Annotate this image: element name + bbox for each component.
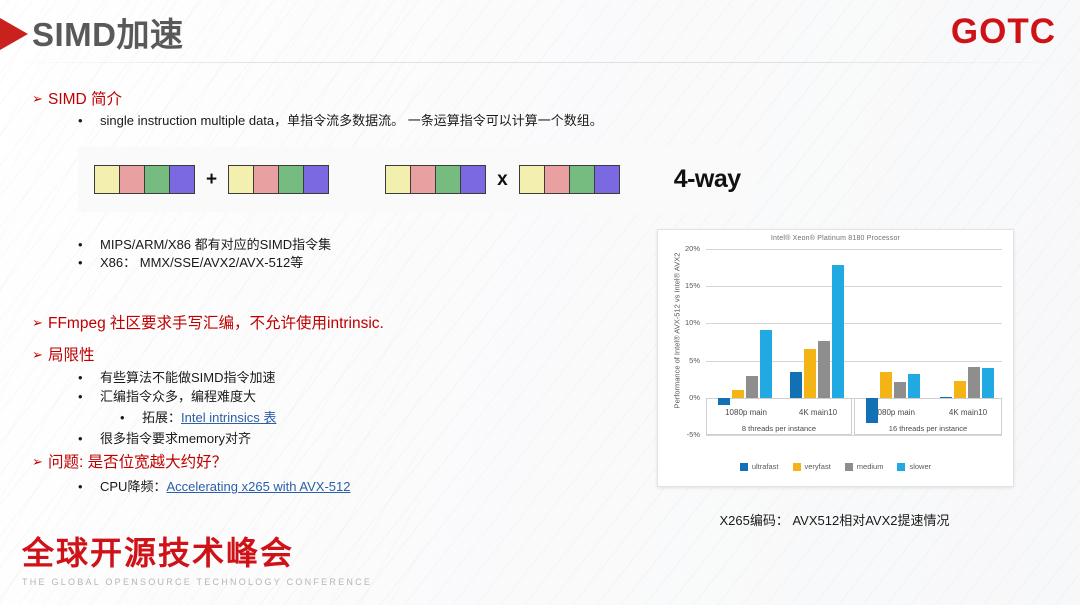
bullet-text: 局限性 — [48, 346, 95, 367]
slide-header: SIMD加速 GOTC — [0, 0, 1080, 62]
bullet-item-l2: •有些算法不能做SIMD指令加速 — [78, 369, 276, 387]
simd-lane — [461, 166, 485, 193]
bullet-item-l1: ➢问题: 是否位宽越大约好？ — [32, 453, 227, 474]
simd-lane — [436, 166, 461, 193]
chart-group-label: 16 threads per instance — [854, 424, 1002, 433]
bullet-text: SIMD 简介 — [48, 90, 122, 111]
chart-gridline — [706, 361, 1002, 362]
page-title: SIMD加速 — [32, 8, 184, 56]
chart-legend-item: ultrafast — [740, 462, 779, 471]
chart-gridline — [706, 286, 1002, 287]
chevron-bullet-icon: ➢ — [32, 453, 48, 472]
simd-lane — [411, 166, 436, 193]
chart-bar — [866, 398, 878, 423]
chart-legend-swatch — [897, 463, 905, 471]
chart-bar — [760, 330, 772, 398]
simd-lane — [229, 166, 254, 193]
conference-logo: 全球开源技术峰会 THE GLOBAL OPENSOURCE TECHNOLOG… — [22, 528, 372, 587]
bullet-item-l2: •CPU降频：Accelerating x265 with AVX-512 — [78, 478, 350, 496]
chart-gridline — [706, 249, 1002, 250]
hyperlink[interactable]: Accelerating x265 with AVX-512 — [166, 478, 350, 496]
bullet-text: CPU降频： — [100, 478, 166, 496]
chart-group-label: 8 threads per instance — [706, 424, 852, 433]
bullet-text: single instruction multiple data，单指令流多数据… — [100, 112, 603, 130]
chevron-bullet-icon: ➢ — [32, 314, 48, 333]
gotc-logo: GOTC — [951, 12, 1056, 52]
bullet-text: 拓展： — [142, 409, 181, 427]
triangle-right-icon — [0, 18, 28, 50]
bullet-item-l1: ➢FFmpeg 社区要求手写汇编，不允许使用intrinsic. — [32, 314, 384, 335]
bullet-item-l2: •很多指令要求memory对齐 — [78, 430, 251, 448]
chart-bar — [894, 382, 906, 398]
simd-lane — [304, 166, 328, 193]
chart-y-tick-label: 20% — [666, 244, 700, 253]
bullet-item-l1: ➢SIMD 简介 — [32, 90, 122, 111]
chart-category-label: 4K main10 — [923, 408, 1013, 417]
bullet-text: 汇编指令众多，编程难度大 — [100, 388, 256, 406]
chart-gridline — [706, 435, 1002, 436]
chevron-bullet-icon: ➢ — [32, 90, 48, 109]
chart-y-tick-label: 5% — [666, 356, 700, 365]
chart-bar — [832, 265, 844, 398]
simd-lane — [170, 166, 194, 193]
chevron-bullet-icon: ➢ — [32, 346, 48, 365]
simd-operator: + — [206, 169, 217, 191]
bullet-item-l1: ➢局限性 — [32, 346, 95, 367]
chart-bar — [818, 341, 830, 398]
chart-legend-label: slower — [909, 462, 931, 471]
simd-lane — [386, 166, 411, 193]
hyperlink[interactable]: Intel intrinsics 表 — [181, 409, 276, 427]
bullet-text: 问题: 是否位宽越大约好？ — [48, 453, 227, 474]
chart-legend: ultrafastveryfastmediumslower — [658, 462, 1013, 471]
simd-lane — [545, 166, 570, 193]
simd-lane — [120, 166, 145, 193]
chart-y-tick-label: 0% — [666, 393, 700, 402]
chart-legend-item: medium — [845, 462, 884, 471]
simd-lane — [595, 166, 619, 193]
bullet-text: MIPS/ARM/X86 都有对应的SIMD指令集 — [100, 236, 331, 254]
bullet-item-l2: •汇编指令众多，编程难度大 — [78, 388, 256, 406]
chart-bar — [880, 372, 892, 398]
bullet-text: X86： MMX/SSE/AVX2/AVX-512等 — [100, 254, 303, 272]
bullet-text: 有些算法不能做SIMD指令加速 — [100, 369, 276, 387]
chart-legend-item: veryfast — [793, 462, 831, 471]
chart-legend-label: medium — [857, 462, 884, 471]
simd-way-label: 4-way — [674, 165, 741, 194]
chart-bar — [790, 372, 802, 398]
dot-bullet-icon: • — [120, 409, 142, 427]
chart-bar — [954, 381, 966, 397]
chart-y-tick-label: 10% — [666, 318, 700, 327]
simd-vector — [94, 165, 195, 194]
bullet-item-l2: •single instruction multiple data，单指令流多数… — [78, 112, 603, 130]
chart-title: Intel® Xeon® Platinum 8180 Processor — [658, 235, 1013, 242]
chart-caption: X265编码： AVX512相对AVX2提速情况 — [657, 510, 1012, 529]
bullet-item-l2: •X86： MMX/SSE/AVX2/AVX-512等 — [78, 254, 303, 272]
chart-gridline — [706, 323, 1002, 324]
chart-legend-swatch — [740, 463, 748, 471]
chart-legend-item: slower — [897, 462, 931, 471]
conference-logo-cn: 全球开源技术峰会 — [22, 528, 372, 574]
simd-vector — [228, 165, 329, 194]
chart-bar — [718, 398, 730, 405]
chart-legend-swatch — [793, 463, 801, 471]
simd-lane — [279, 166, 304, 193]
simd-lane — [254, 166, 279, 193]
dot-bullet-icon: • — [78, 369, 100, 387]
simd-operator: x — [497, 169, 508, 191]
avx512-performance-chart: Intel® Xeon® Platinum 8180 Processor Per… — [657, 229, 1014, 487]
chart-bar — [908, 374, 920, 398]
dot-bullet-icon: • — [78, 236, 100, 254]
chart-plot-area: 20%15%10%5%0%-5%8 threads per instance16… — [706, 249, 1002, 435]
bullet-item-l3: •拓展：Intel intrinsics 表 — [120, 409, 276, 427]
simd-vector — [385, 165, 486, 194]
dot-bullet-icon: • — [78, 112, 100, 130]
dot-bullet-icon: • — [78, 388, 100, 406]
header-divider — [0, 62, 1080, 63]
dot-bullet-icon: • — [78, 430, 100, 448]
chart-bar — [982, 368, 994, 398]
conference-logo-en: THE GLOBAL OPENSOURCE TECHNOLOGY CONFERE… — [22, 577, 372, 587]
simd-lane — [95, 166, 120, 193]
chart-bar — [940, 397, 952, 398]
chart-legend-label: veryfast — [805, 462, 831, 471]
bullet-item-l2: •MIPS/ARM/X86 都有对应的SIMD指令集 — [78, 236, 331, 254]
simd-lane — [145, 166, 170, 193]
chart-bar — [732, 390, 744, 397]
simd-vector — [519, 165, 620, 194]
bullet-text: 很多指令要求memory对齐 — [100, 430, 251, 448]
chart-legend-label: ultrafast — [752, 462, 779, 471]
chart-bar — [968, 367, 980, 398]
bullet-text: FFmpeg 社区要求手写汇编，不允许使用intrinsic. — [48, 314, 384, 335]
dot-bullet-icon: • — [78, 478, 100, 496]
simd-lane — [520, 166, 545, 193]
chart-legend-swatch — [845, 463, 853, 471]
chart-bar — [746, 376, 758, 398]
chart-y-tick-label: -5% — [666, 430, 700, 439]
chart-y-tick-label: 15% — [666, 281, 700, 290]
simd-diagram: +x4-way — [78, 147, 756, 212]
simd-lane — [570, 166, 595, 193]
chart-bar — [804, 349, 816, 398]
dot-bullet-icon: • — [78, 254, 100, 272]
